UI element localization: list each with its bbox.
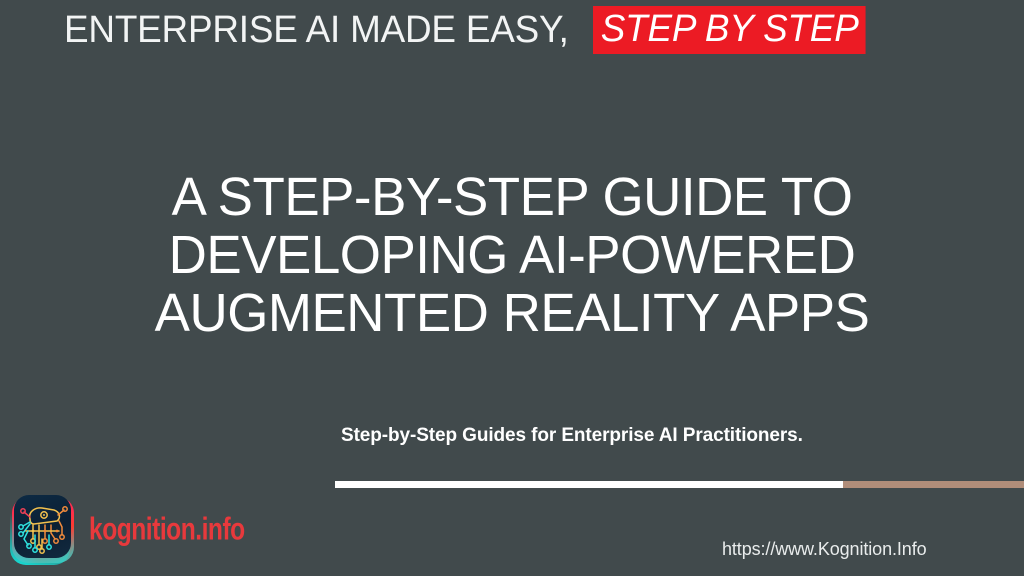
title-line-1: A STEP-BY-STEP GUIDE TO [10, 168, 1014, 226]
slide-eyebrow: ENTERPRISE AI MADE EASY, STEP BY STEP [64, 4, 874, 56]
brand-logo: kognition.info [10, 495, 279, 565]
presentation-slide: ENTERPRISE AI MADE EASY, STEP BY STEP A … [0, 0, 1024, 576]
eyebrow-highlight-badge: STEP BY STEP [593, 6, 865, 54]
title-line-3: AUGMENTED REALITY APPS [10, 284, 1014, 342]
circuit-brain-icon [10, 495, 76, 565]
site-url: https://www.Kognition.Info [722, 538, 927, 560]
slide-subtitle: Step-by-Step Guides for Enterprise AI Pr… [341, 424, 803, 448]
divider-segment-accent [843, 481, 1024, 488]
divider [335, 481, 1024, 488]
circuit-trace-graphic [14, 495, 71, 558]
page-title: A STEP-BY-STEP GUIDE TO DEVELOPING AI-PO… [0, 168, 1024, 342]
logo-wordmark: kognition.info [89, 513, 245, 547]
eyebrow-plain-text: ENTERPRISE AI MADE EASY, [64, 8, 569, 52]
divider-segment-light [335, 481, 843, 488]
logo-tile [14, 495, 71, 558]
title-line-2: DEVELOPING AI-POWERED [10, 226, 1014, 284]
